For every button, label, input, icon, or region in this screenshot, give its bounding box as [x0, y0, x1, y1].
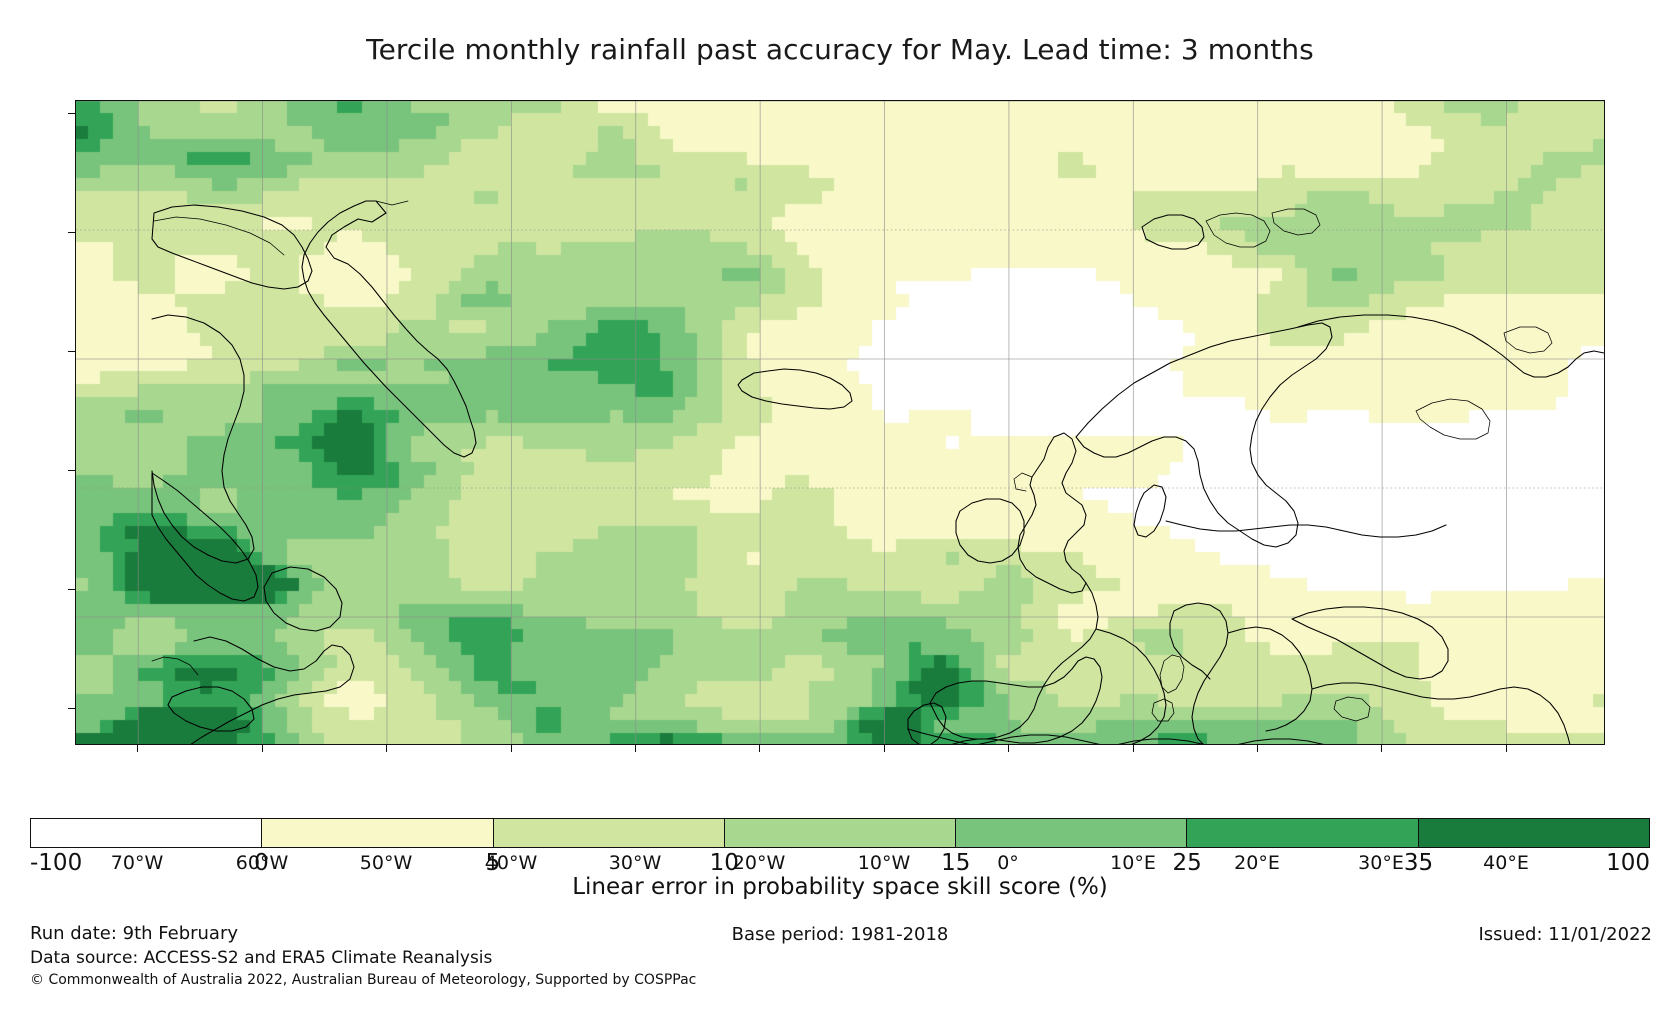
x-tick-40e: [1506, 745, 1507, 752]
y-tick-30n: [68, 708, 75, 709]
x-tick-10e: [1133, 745, 1134, 752]
y-tick-80n: [68, 113, 75, 114]
figure-root: Tercile monthly rainfall past accuracy f…: [0, 0, 1680, 1020]
colorbar-tick-10: 10: [710, 850, 739, 876]
data-source: Data source: ACCESS-S2 and ERA5 Climate …: [30, 946, 696, 970]
colorbar-axis-label: Linear error in probability space skill …: [0, 874, 1680, 900]
base-period: Base period: 1981-2018: [0, 924, 1680, 945]
colorbar-tick-35: 35: [1404, 850, 1433, 876]
x-tick-20e: [1257, 745, 1258, 752]
x-tick-40w: [511, 745, 512, 752]
x-tick-60w: [262, 745, 263, 752]
map-panel: 80°N 70°N 60°N 50°N 40°N 30°N 70°W 60°W …: [75, 100, 1605, 745]
colorbar-segment-2: [494, 819, 725, 847]
colorbar-tick-25: 25: [1173, 850, 1202, 876]
colorbar-tick-0: 0: [254, 850, 269, 876]
x-tick-20w: [759, 745, 760, 752]
colorbar-segment-1: [262, 819, 493, 847]
x-tick-30w: [635, 745, 636, 752]
y-tick-70n: [68, 232, 75, 233]
x-tick-70w: [137, 745, 138, 752]
issued-date: Issued: 11/01/2022: [1478, 924, 1652, 945]
y-tick-60n: [68, 351, 75, 352]
y-tick-50n: [68, 470, 75, 471]
chart-title: Tercile monthly rainfall past accuracy f…: [0, 33, 1680, 66]
x-tick-30e: [1381, 745, 1382, 752]
copyright-notice: © Commonwealth of Australia 2022, Austra…: [30, 970, 696, 991]
y-tick-40n: [68, 589, 75, 590]
skill-score-heatmap: [76, 101, 1605, 745]
colorbar-tick-15: 15: [941, 850, 970, 876]
colorbar-segment-0: [31, 819, 262, 847]
colorbar-segment-6: [1419, 819, 1649, 847]
x-tick-50w: [386, 745, 387, 752]
colorbar-segment-3: [725, 819, 956, 847]
colorbar-segment-5: [1187, 819, 1418, 847]
x-tick-0: [1008, 745, 1009, 752]
footer: Run date: 9th February Data source: ACCE…: [0, 922, 1680, 1012]
colorbar-tick-neg100: -100: [30, 850, 82, 876]
colorbar: -1000510152535100: [30, 818, 1650, 848]
colorbar-segment-4: [956, 819, 1187, 847]
colorbar-gradient: [30, 818, 1650, 848]
colorbar-tick-100: 100: [1606, 850, 1650, 876]
map-frame: [75, 100, 1605, 745]
colorbar-tick-5: 5: [486, 850, 501, 876]
x-tick-10w: [884, 745, 885, 752]
